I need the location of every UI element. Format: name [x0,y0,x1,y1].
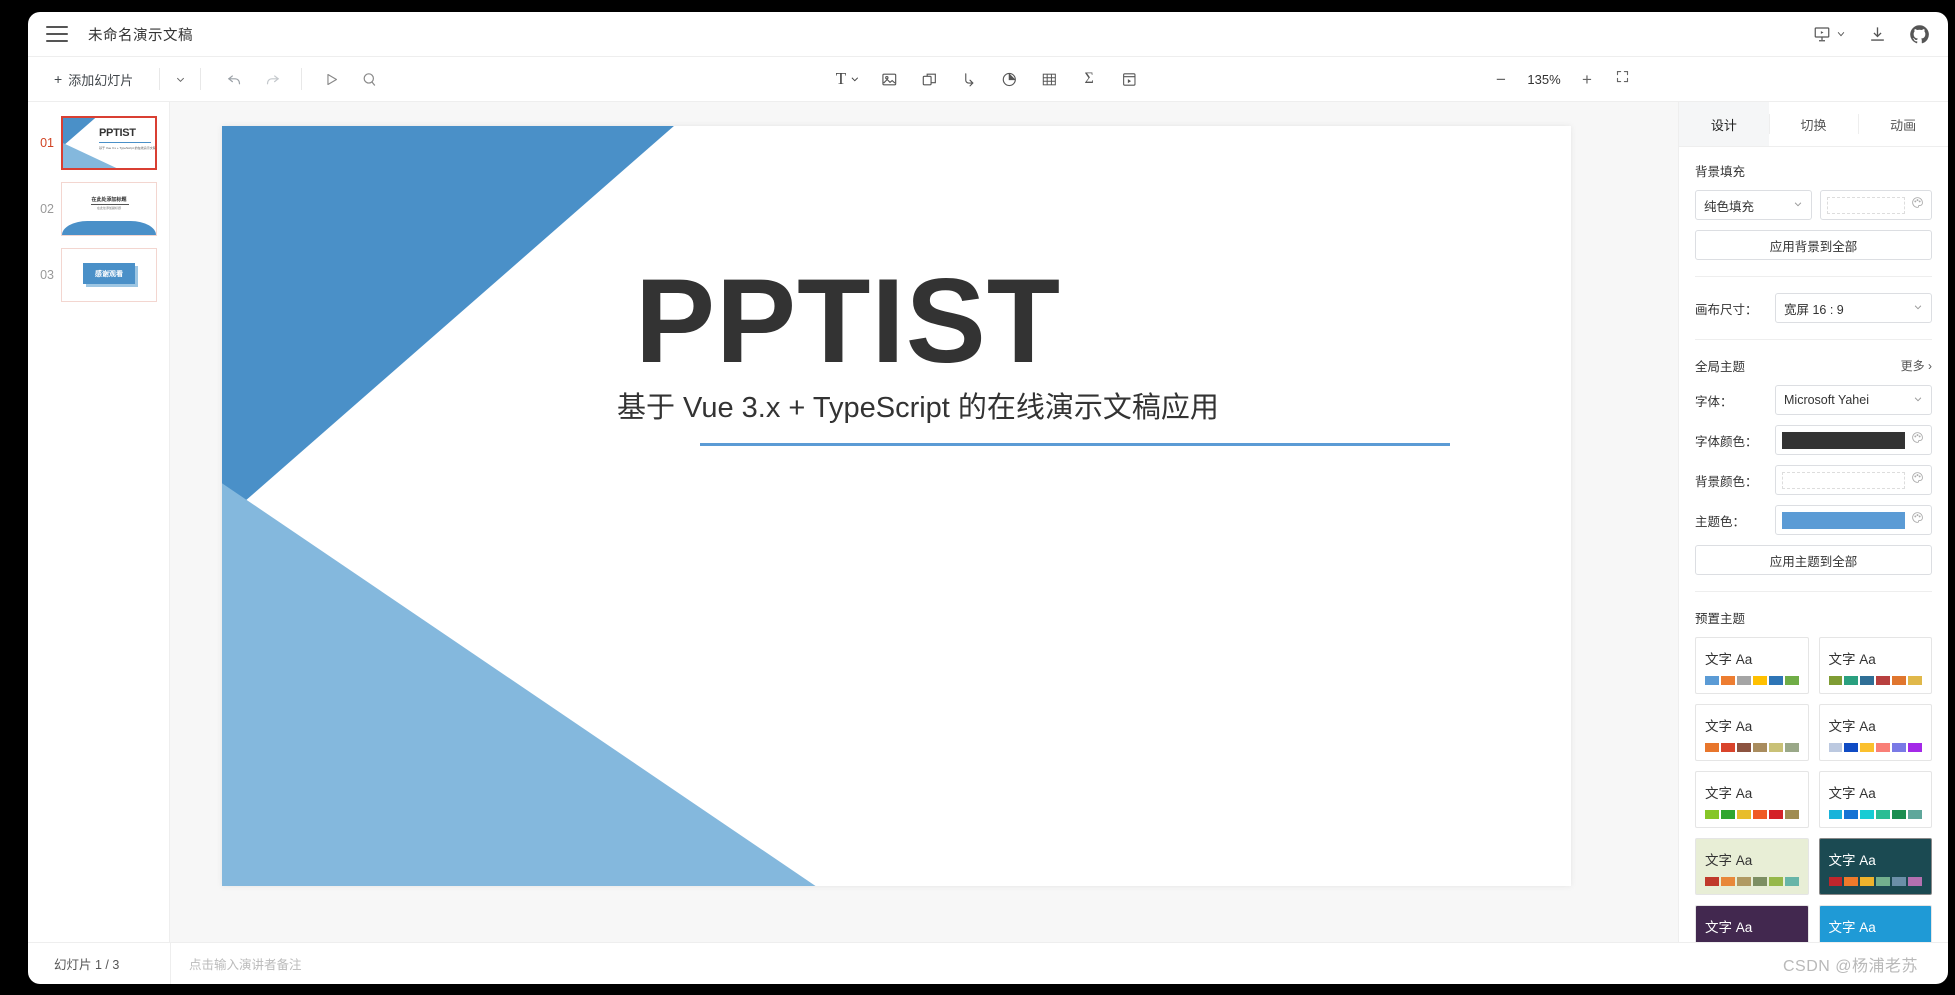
preset-theme-color-swatch [1769,743,1783,752]
add-slide-menu-button[interactable] [160,57,200,101]
slide-index: 03 [34,268,54,282]
preset-theme-color-swatch [1721,743,1735,752]
preset-themes-section-title: 预置主题 [1695,608,1932,627]
canvas-size-select[interactable]: 宽屏 16 : 9 [1775,293,1932,323]
preset-theme-color-swatch [1785,676,1799,685]
preset-theme-color-swatch [1737,743,1751,752]
global-theme-section-title: 全局主题 更多 › [1695,356,1932,375]
preset-theme-color-swatch [1860,743,1874,752]
preset-theme-card[interactable]: 文字 Aa [1819,637,1933,694]
preset-theme-sample-text: 文字 Aa [1829,849,1923,869]
preset-theme-color-swatch [1908,676,1922,685]
preset-theme-color-swatch [1829,743,1843,752]
preset-theme-sample-text: 文字 Aa [1829,715,1923,735]
preset-theme-color-swatch [1860,676,1874,685]
preset-theme-color-swatch [1753,810,1767,819]
theme-font-color-label: 字体颜色： [1695,431,1767,450]
preset-theme-color-swatch [1829,810,1843,819]
panel-tab-bar: 设计 切换 动画 [1679,102,1948,147]
apply-theme-all-button[interactable]: 应用主题到全部 [1695,545,1932,575]
preset-theme-sample-text: 文字 Aa [1705,715,1799,735]
slide-subtitle-text[interactable]: 基于 Vue 3.x + TypeScript 的在线演示文稿应用 [617,384,1219,426]
preset-theme-color-swatch [1829,877,1843,886]
insert-tools: T [832,64,1144,94]
theme-font-color-picker[interactable] [1775,425,1932,455]
preset-theme-color-swatch [1753,743,1767,752]
pptist-app: 未命名演示文稿 [28,12,1948,984]
preset-theme-color-swatch [1844,676,1858,685]
theme-accent-color-row: 主题色： [1695,505,1932,535]
theme-font-color-row: 字体颜色： [1695,425,1932,455]
global-theme-label: 全局主题 [1695,356,1745,375]
divider [1695,276,1932,277]
toolbar-divider-3 [301,68,302,90]
preset-theme-color-swatch [1705,810,1719,819]
preset-theme-colors [1705,743,1799,752]
slide-canvas[interactable]: PPTIST 基于 Vue 3.x + TypeScript 的在线演示文稿应用 [222,126,1571,886]
preset-theme-color-swatch [1785,877,1799,886]
theme-font-row: 字体： Microsoft Yahei [1695,385,1932,415]
preset-theme-color-swatch [1737,877,1751,886]
preset-theme-color-swatch [1908,877,1922,886]
divider [1695,339,1932,340]
preset-theme-card[interactable]: 文字 Aa [1695,704,1809,761]
slide-thumbnail-1[interactable]: 01 PPTIST 基于 Vue 3.x + TypeScript 的在线演示文… [28,110,169,176]
preset-theme-color-swatch [1785,743,1799,752]
fullscreen-icon[interactable] [1615,69,1630,89]
thumb-title: PPTIST [99,127,136,139]
palette-icon[interactable] [1911,196,1925,214]
theme-bg-color-row: 背景颜色： [1695,465,1932,495]
preset-theme-color-swatch [1908,810,1922,819]
text-tool-label: T [836,69,846,89]
slide-thumbnail-preview[interactable]: PPTIST 基于 Vue 3.x + TypeScript 的在线演示文稿应用 [61,116,157,170]
apply-background-all-button[interactable]: 应用背景到全部 [1695,230,1932,260]
preset-theme-card[interactable]: 文字 Aa [1819,838,1933,895]
slide-divider-line[interactable] [700,443,1450,446]
preset-themes-label: 预置主题 [1695,608,1745,627]
preset-theme-sample-text: 文字 Aa [1829,782,1923,802]
preset-theme-color-swatch [1721,676,1735,685]
play-icon[interactable] [316,64,346,94]
shape-icon[interactable] [914,64,944,94]
slide-index: 02 [34,202,54,216]
palette-icon[interactable] [1911,431,1925,449]
preset-theme-color-swatch [1753,877,1767,886]
preset-theme-color-swatch [1844,743,1858,752]
palette-icon[interactable] [1911,471,1925,489]
preset-theme-color-swatch [1892,676,1906,685]
preset-theme-grid[interactable]: 文字 Aa文字 Aa文字 Aa文字 Aa文字 Aa文字 Aa文字 Aa文字 Aa… [1695,637,1932,942]
background-color-swatch [1827,197,1906,214]
main-toolbar: + 添加幻灯片 [28,57,1948,102]
thumb-wave-shape [62,221,156,235]
preset-theme-colors [1705,877,1799,886]
preset-theme-colors [1829,877,1923,886]
theme-bg-color-swatch [1782,472,1905,489]
preset-theme-card[interactable]: 文字 Aa [1695,637,1809,694]
zoom-out-button[interactable]: − [1493,71,1509,88]
speaker-notes-input[interactable]: 点击输入演讲者备注 [170,943,1948,984]
right-panel: 设计 切换 动画 背景填充 纯色填充 [1678,102,1948,942]
slide-title-text[interactable]: PPTIST [635,261,1061,381]
thumb-rule [91,204,129,205]
preset-theme-color-swatch [1860,810,1874,819]
title-bar: 未命名演示文稿 [28,12,1948,57]
theme-accent-color-picker[interactable] [1775,505,1932,535]
redo-icon[interactable] [257,64,287,94]
slide-thumbnail-list[interactable]: 01 PPTIST 基于 Vue 3.x + TypeScript 的在线演示文… [28,102,170,942]
chevron-down-icon [1793,198,1803,212]
thumb-subtitle: 在此处添加副标题 [62,206,156,210]
preset-theme-color-swatch [1829,676,1843,685]
preset-theme-color-swatch [1892,877,1906,886]
slide-index: 01 [34,136,54,150]
preset-theme-colors [1829,743,1923,752]
preset-theme-color-swatch [1769,810,1783,819]
preset-theme-card[interactable]: 文字 Aa [1695,771,1809,828]
background-label: 背景填充 [1695,161,1745,180]
design-panel-content[interactable]: 背景填充 纯色填充 [1679,147,1948,942]
slide-thumbnail-3[interactable]: 03 感谢观看 [28,242,169,308]
tab-animation[interactable]: 动画 [1858,102,1948,146]
slide-thumbnail-preview[interactable]: 在此处添加标题 在此处添加副标题 [61,182,157,236]
chevron-down-icon [1913,393,1923,407]
global-theme-more-link[interactable]: 更多 › [1901,357,1932,374]
preset-theme-color-swatch [1908,743,1922,752]
slide-counter: 幻灯片 1 / 3 [28,954,170,973]
github-icon[interactable] [1909,24,1930,45]
preset-theme-colors [1829,810,1923,819]
chevron-down-icon [850,74,860,84]
canvas-size-row: 画布尺寸： 宽屏 16 : 9 [1695,293,1932,323]
tab-transition[interactable]: 切换 [1769,102,1859,146]
slide-thumbnail-preview[interactable]: 感谢观看 [61,248,157,302]
theme-font-value: Microsoft Yahei [1784,393,1869,407]
preset-theme-card[interactable]: 文字 Aa [1819,905,1933,942]
formula-icon[interactable]: Σ [1074,64,1104,94]
preset-theme-color-swatch [1705,676,1719,685]
chevron-down-icon[interactable] [1836,29,1846,39]
workspace: 01 PPTIST 基于 Vue 3.x + TypeScript 的在线演示文… [28,102,1948,942]
document-title[interactable]: 未命名演示文稿 [88,24,193,45]
zoom-controls: − 135% + [1493,69,1630,89]
theme-accent-color-label: 主题色： [1695,511,1767,530]
preset-theme-color-swatch [1785,810,1799,819]
background-fill-type-value: 纯色填充 [1704,196,1754,215]
preset-theme-color-swatch [1705,877,1719,886]
chevron-down-icon [1913,301,1923,315]
preset-theme-color-swatch [1737,676,1751,685]
preset-theme-color-swatch [1876,877,1890,886]
preset-theme-color-swatch [1876,676,1890,685]
line-icon[interactable] [954,64,984,94]
canvas-size-value: 宽屏 16 : 9 [1784,299,1844,318]
undo-icon[interactable] [219,64,249,94]
preset-theme-colors [1705,676,1799,685]
background-color-picker[interactable] [1820,190,1933,220]
history-tools [201,64,384,94]
preset-theme-sample-text: 文字 Aa [1829,916,1923,936]
image-icon[interactable] [874,64,904,94]
media-icon[interactable] [1114,64,1144,94]
add-slide-label: 添加幻灯片 [68,70,133,89]
preset-theme-color-swatch [1737,810,1751,819]
search-icon[interactable] [354,64,384,94]
preset-theme-card[interactable]: 文字 Aa [1819,704,1933,761]
theme-bg-color-picker[interactable] [1775,465,1932,495]
preset-theme-color-swatch [1860,877,1874,886]
theme-font-color-swatch [1782,432,1905,449]
zoom-in-button[interactable]: + [1579,71,1595,88]
preset-theme-card[interactable]: 文字 Aa [1819,771,1933,828]
insert-text-button[interactable]: T [832,69,864,89]
theme-font-select[interactable]: Microsoft Yahei [1775,385,1932,415]
preset-theme-color-swatch [1769,676,1783,685]
present-button[interactable] [1813,25,1846,43]
preset-theme-color-swatch [1892,743,1906,752]
status-bar: 幻灯片 1 / 3 点击输入演讲者备注 [28,942,1948,984]
preset-theme-sample-text: 文字 Aa [1705,782,1799,802]
preset-theme-color-swatch [1892,810,1906,819]
thumb-rule [99,142,151,143]
preset-theme-color-swatch [1721,810,1735,819]
titlebar-actions [1813,24,1930,45]
preset-theme-color-swatch [1721,877,1735,886]
background-fill-row: 纯色填充 [1695,190,1932,220]
preset-theme-color-swatch [1769,877,1783,886]
chart-icon[interactable] [994,64,1024,94]
preset-theme-card[interactable]: 文字 Aa [1695,905,1809,942]
preset-theme-color-swatch [1876,810,1890,819]
preset-theme-color-swatch [1753,676,1767,685]
preset-theme-card[interactable]: 文字 Aa [1695,838,1809,895]
background-section-title: 背景填充 [1695,161,1932,180]
preset-theme-color-swatch [1876,743,1890,752]
slide-thumbnail-2[interactable]: 02 在此处添加标题 在此处添加副标题 [28,176,169,242]
palette-icon[interactable] [1911,511,1925,529]
table-icon[interactable] [1034,64,1064,94]
preset-theme-color-swatch [1844,810,1858,819]
thumb-subtitle: 基于 Vue 3.x + TypeScript 的在线演示文稿应用 [99,145,157,150]
canvas-size-label: 画布尺寸： [1695,299,1767,318]
preset-theme-sample-text: 文字 Aa [1705,648,1799,668]
slide-editor-stage[interactable]: PPTIST 基于 Vue 3.x + TypeScript 的在线演示文稿应用 [170,102,1678,942]
preset-theme-color-swatch [1844,877,1858,886]
preset-theme-colors [1705,810,1799,819]
preset-theme-color-swatch [1705,743,1719,752]
hamburger-icon[interactable] [46,26,68,42]
preset-theme-sample-text: 文字 Aa [1705,849,1799,869]
preset-theme-colors [1829,676,1923,685]
download-icon[interactable] [1868,25,1887,44]
thumb-title: 感谢观看 [83,263,135,284]
thumb-title: 在此处添加标题 [62,196,156,203]
divider [1695,591,1932,592]
theme-font-label: 字体： [1695,391,1767,410]
tab-design[interactable]: 设计 [1679,102,1769,146]
theme-bg-color-label: 背景颜色： [1695,471,1767,490]
background-fill-type-select[interactable]: 纯色填充 [1695,190,1812,220]
theme-accent-color-swatch [1782,512,1905,529]
preset-theme-sample-text: 文字 Aa [1705,916,1799,936]
add-slide-button[interactable]: + 添加幻灯片 [28,57,159,101]
plus-icon: + [54,71,62,87]
zoom-value[interactable]: 135% [1523,72,1565,87]
preset-theme-sample-text: 文字 Aa [1829,648,1923,668]
